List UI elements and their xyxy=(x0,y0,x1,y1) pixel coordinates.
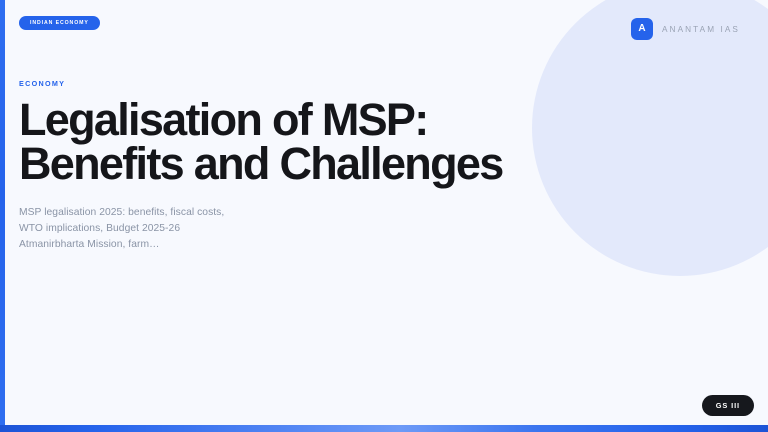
brand-mark-icon: A xyxy=(631,18,653,40)
bottom-accent-bar xyxy=(0,425,768,432)
page-title: Legalisation of MSP: Benefits and Challe… xyxy=(19,98,519,185)
page-subtitle: MSP legalisation 2025: benefits, fiscal … xyxy=(19,205,237,253)
hero-content: ECONOMY Legalisation of MSP: Benefits an… xyxy=(19,80,519,253)
category-badge[interactable]: INDIAN ECONOMY xyxy=(19,16,100,30)
brand-name-label: ANANTAM IAS xyxy=(662,25,740,34)
top-bar: INDIAN ECONOMY A ANANTAM IAS xyxy=(0,0,768,60)
left-accent-bar xyxy=(0,0,5,432)
syllabus-badge[interactable]: GS III xyxy=(702,395,754,416)
brand-logo[interactable]: A ANANTAM IAS xyxy=(631,18,740,40)
article-hero-card: INDIAN ECONOMY A ANANTAM IAS ECONOMY Leg… xyxy=(0,0,768,432)
section-kicker: ECONOMY xyxy=(19,80,519,87)
